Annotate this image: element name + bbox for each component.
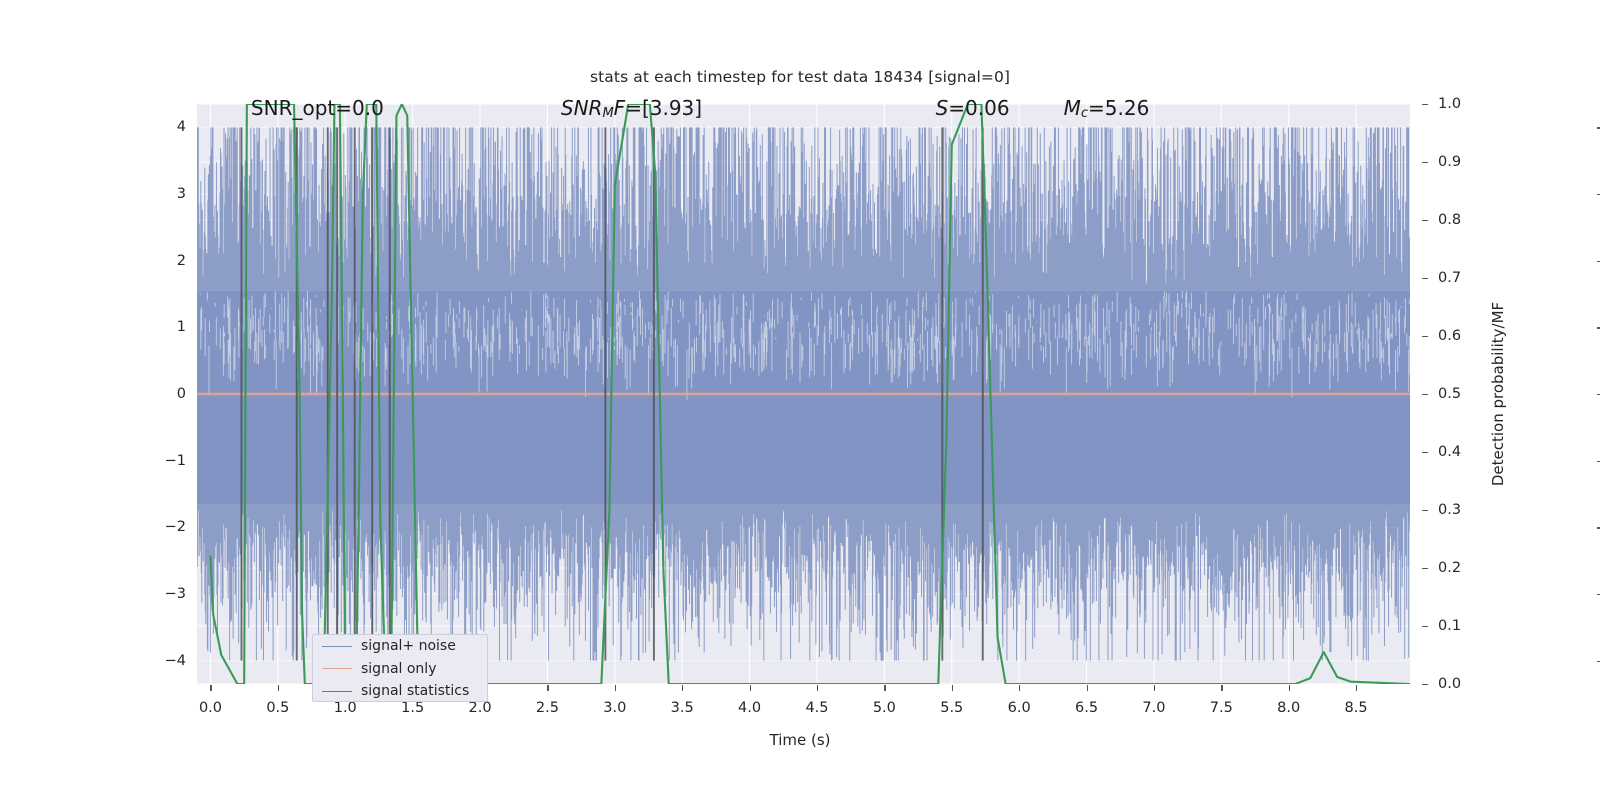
y-tick-label-left: −3 xyxy=(165,586,186,602)
y-tick-label-right: 0.9 xyxy=(1438,154,1461,170)
y-tick-label-left: 4 xyxy=(177,119,186,135)
y-tick-label-right: 0.8 xyxy=(1438,212,1461,228)
y-tick-mark-right xyxy=(1422,626,1428,627)
x-tick-mark xyxy=(750,685,751,691)
x-tick-mark xyxy=(278,685,279,691)
x-tick-mark xyxy=(615,685,616,691)
x-tick-mark xyxy=(210,685,211,691)
y-tick-label-left: 2 xyxy=(177,253,186,269)
x-tick-mark xyxy=(1154,685,1155,691)
y-tick-label-right: 0.4 xyxy=(1438,444,1461,460)
x-tick-label: 8.0 xyxy=(1277,700,1300,716)
x-axis-label: Time (s) xyxy=(0,731,1600,749)
plot-area xyxy=(197,104,1410,684)
y-tick-label-left: 3 xyxy=(177,186,186,202)
x-tick-label: 0.0 xyxy=(199,700,222,716)
x-tick-mark xyxy=(682,685,683,691)
x-tick-mark xyxy=(1019,685,1020,691)
x-tick-mark xyxy=(952,685,953,691)
y-tick-label-right: 0.1 xyxy=(1438,618,1461,634)
y-tick-label-right: 0.6 xyxy=(1438,328,1461,344)
y-tick-label-left: −2 xyxy=(165,519,186,535)
y-tick-label-left: −1 xyxy=(165,453,186,469)
x-tick-label: 5.0 xyxy=(873,700,896,716)
x-tick-label: 6.0 xyxy=(1008,700,1031,716)
y-tick-mark-right xyxy=(1422,162,1428,163)
x-tick-mark xyxy=(1356,685,1357,691)
legend: signal+ noisesignal onlysignal statistic… xyxy=(312,634,488,702)
y-tick-label-left: 1 xyxy=(177,319,186,335)
x-tick-mark xyxy=(817,685,818,691)
y-tick-label-right: 0.0 xyxy=(1438,676,1461,692)
y-tick-mark-right xyxy=(1422,684,1428,685)
y-tick-mark-right xyxy=(1422,394,1428,395)
annotation-chirp-mass: Mc=5.26 xyxy=(1064,96,1150,121)
y-tick-label-left: −4 xyxy=(165,653,186,669)
x-tick-label: 7.5 xyxy=(1210,700,1233,716)
legend-swatch-line xyxy=(322,668,352,669)
y-tick-mark-right xyxy=(1422,510,1428,511)
y-tick-label-right: 0.7 xyxy=(1438,270,1461,286)
legend-item[interactable]: signal+ noise xyxy=(313,635,487,658)
annotation-snr-opt: SNR_opt=0.0 xyxy=(251,96,384,120)
y-tick-label-right: 0.5 xyxy=(1438,386,1461,402)
x-tick-label: 4.0 xyxy=(738,700,761,716)
y-tick-label-left: 0 xyxy=(177,386,186,402)
x-tick-mark xyxy=(1221,685,1222,691)
y-tick-mark-right xyxy=(1422,568,1428,569)
annotation-snr-mf: SNRMF=[3.93] xyxy=(561,96,702,121)
legend-item-label: signal+ noise xyxy=(361,638,456,654)
x-tick-mark xyxy=(1289,685,1290,691)
y-tick-mark-right xyxy=(1422,104,1428,105)
x-tick-label: 8.5 xyxy=(1345,700,1368,716)
x-tick-label: 3.0 xyxy=(603,700,626,716)
y-tick-mark-right xyxy=(1422,452,1428,453)
legend-item[interactable]: signal statistics xyxy=(313,680,487,703)
legend-swatch-line xyxy=(322,691,352,692)
x-tick-label: 4.5 xyxy=(805,700,828,716)
y-tick-label-right: 0.3 xyxy=(1438,502,1461,518)
matplotlib-figure: stats at each timestep for test data 184… xyxy=(0,0,1600,800)
x-tick-label: 5.5 xyxy=(940,700,963,716)
legend-item-label: signal only xyxy=(361,661,436,677)
annotation-statistic-s: S=0.06 xyxy=(936,96,1010,120)
y-tick-mark-right xyxy=(1422,278,1428,279)
x-tick-mark xyxy=(1087,685,1088,691)
legend-swatch-line xyxy=(322,646,352,647)
legend-item-label: signal statistics xyxy=(361,683,469,699)
y-axis-right-label: Detection probability/MF xyxy=(1489,249,1507,539)
legend-item[interactable]: signal only xyxy=(313,658,487,681)
y-tick-mark-right xyxy=(1422,220,1428,221)
y-tick-mark-right xyxy=(1422,336,1428,337)
page-title: stats at each timestep for test data 184… xyxy=(0,68,1600,86)
x-tick-label: 3.5 xyxy=(671,700,694,716)
x-tick-label: 0.5 xyxy=(266,700,289,716)
x-tick-label: 6.5 xyxy=(1075,700,1098,716)
plot-canvas xyxy=(197,104,1410,684)
x-tick-mark xyxy=(547,685,548,691)
x-tick-label: 7.0 xyxy=(1142,700,1165,716)
x-tick-label: 2.5 xyxy=(536,700,559,716)
x-tick-mark xyxy=(884,685,885,691)
y-tick-label-right: 0.2 xyxy=(1438,560,1461,576)
y-tick-label-right: 1.0 xyxy=(1438,96,1461,112)
